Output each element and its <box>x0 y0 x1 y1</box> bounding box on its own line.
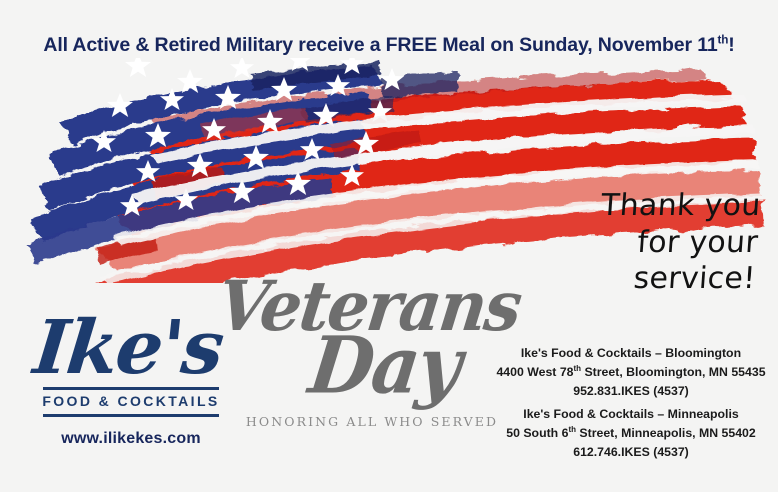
thank-you-line-2: for your <box>577 225 760 262</box>
ikes-logo[interactable]: Ike's FOOD & COCKTAILS www.ilikekes.com <box>12 312 250 448</box>
location-address-before: 4400 West 78 <box>496 365 573 379</box>
location-address-ordinal: th <box>568 425 576 434</box>
honoring-tagline: HONORING ALL WHO SERVED <box>222 414 522 429</box>
thank-you-line-3: service! <box>574 261 757 298</box>
website-url[interactable]: www.ilikekes.com <box>12 430 250 448</box>
ikes-script-wordmark: Ike's <box>2 312 254 385</box>
location-phone[interactable]: 952.831.IKES (4537) <box>492 382 770 401</box>
location-address-after: Street, Minneapolis, MN 55402 <box>576 426 756 440</box>
location-address-before: 50 South 6 <box>506 426 568 440</box>
location-name: Ike's Food & Cocktails – Bloomington <box>492 344 770 363</box>
location-address-after: Street, Bloomington, MN 55435 <box>581 365 765 379</box>
promo-headline-suffix: ! <box>728 34 734 56</box>
thank-you-message: Thank you for your service! <box>574 188 762 298</box>
location-address: 50 South 6th Street, Minneapolis, MN 554… <box>492 424 770 443</box>
location-name: Ike's Food & Cocktails – Minneapolis <box>492 405 770 424</box>
flag-navy-strokes <box>26 62 458 264</box>
day-word: Day <box>247 330 522 402</box>
logo-rule-bottom <box>43 414 219 417</box>
ikes-logo-subtitle: FOOD & COCKTAILS <box>12 390 250 411</box>
flag-stars <box>92 58 404 216</box>
veterans-day-title-block: Veterans Day HONORING ALL WHO SERVED <box>222 276 522 466</box>
thank-you-line-1: Thank you <box>579 188 762 225</box>
location-minneapolis: Ike's Food & Cocktails – Minneapolis 50 … <box>492 405 770 462</box>
location-address: 4400 West 78th Street, Bloomington, MN 5… <box>492 363 770 382</box>
location-bloomington: Ike's Food & Cocktails – Bloomington 440… <box>492 344 770 401</box>
location-address-ordinal: th <box>574 364 582 373</box>
promo-headline: All Active & Retired Military receive a … <box>0 34 778 57</box>
promo-headline-text: All Active & Retired Military receive a … <box>43 34 717 56</box>
location-phone[interactable]: 612.746.IKES (4537) <box>492 443 770 462</box>
promo-headline-ordinal: th <box>718 34 729 47</box>
veterans-day-flyer: All Active & Retired Military receive a … <box>0 0 778 492</box>
flag-red-accents <box>96 108 422 266</box>
